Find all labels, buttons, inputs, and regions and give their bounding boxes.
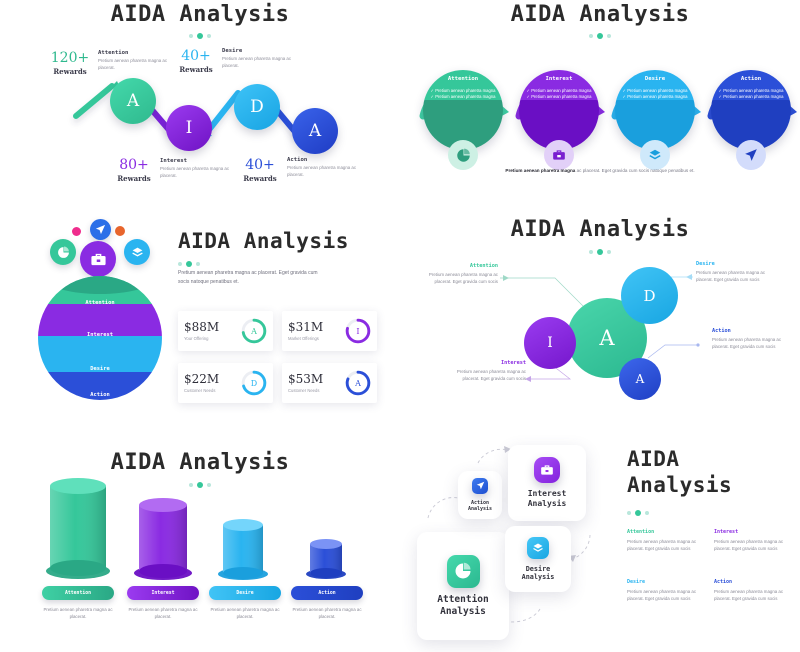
flow-card-action[interactable]: Action Analysis xyxy=(458,471,502,519)
arc-group-attention[interactable]: Attention ✓ Pretium aenean pharetra magn… xyxy=(415,52,511,172)
panel-sphere-stats: Attention Interest Desire Action AIDA An… xyxy=(0,205,400,433)
donut-ring: A xyxy=(241,318,267,344)
bubble-interest[interactable]: I xyxy=(524,317,576,369)
bubble-note-attention: Attention Pretium aenean pharetra magna … xyxy=(414,263,498,285)
stat-card-customer-needs-a[interactable]: $53M Customer Needs A xyxy=(282,363,377,403)
step-node-interest[interactable]: I xyxy=(166,105,212,151)
bubble-note-desire: Desire Pretium aenean pharetra magna ac … xyxy=(696,261,780,283)
layers-icon[interactable] xyxy=(124,239,150,265)
arc-bullets: ✓ Pretium aenean pharetra magna ✓ Pretiu… xyxy=(717,88,785,101)
bar-pill-attention[interactable]: Attention xyxy=(42,586,114,600)
arc-disc xyxy=(711,70,791,150)
ring-letter: I xyxy=(345,318,371,344)
arc-disc xyxy=(519,70,599,150)
arc-bullet-1: Pretium aenean pharetra magna xyxy=(723,88,783,93)
note-heading: Interest xyxy=(714,529,792,535)
arc-bullets: ✓ Pretium aenean pharetra magna ✓ Pretiu… xyxy=(429,88,497,101)
arc-label: Desire xyxy=(607,76,703,82)
note-body: Pretium aenean pharetra magna ac placera… xyxy=(414,271,498,285)
flow-note-interest: Interest Pretium aenean pharetra magna a… xyxy=(714,529,792,553)
flow-card-attention[interactable]: Attention Analysis xyxy=(417,532,509,640)
step-text-desire: Desire Pretium aenean pharetra magna ac … xyxy=(222,48,308,70)
note-body: Pretium aenean pharetra magna ac placera… xyxy=(627,538,705,553)
flow-card-interest[interactable]: Interest Analysis xyxy=(508,445,586,521)
metric-desire: 40+ Rewards xyxy=(168,49,224,74)
step-desc: Pretium aenean pharetra magna ac placera… xyxy=(222,56,308,70)
layers-icon[interactable] xyxy=(527,537,549,559)
send-icon[interactable] xyxy=(736,140,766,170)
panel-arc-circles: AIDA Analysis Attention ✓ Pretium aenean… xyxy=(400,0,800,205)
arc-label: Attention xyxy=(415,76,511,82)
arc-bullet-2: Pretium aenean pharetra magna xyxy=(531,94,591,99)
arc-bullets: ✓ Pretium aenean pharetra magna ✓ Pretiu… xyxy=(621,88,689,101)
arc-disc xyxy=(615,70,695,150)
panel-lead-text: Pretium aenean pharetra magna ac placera… xyxy=(178,269,328,287)
donut-ring: D xyxy=(241,370,267,396)
bar-desc-interest: Pretium aenean pharetra magna ac placera… xyxy=(121,606,205,620)
step-letter: D xyxy=(250,97,264,117)
bar-pill-action[interactable]: Action xyxy=(291,586,363,600)
bar-pill-desire[interactable]: Desire xyxy=(209,586,281,600)
stat-amount: $31M xyxy=(288,321,323,333)
stat-card-your-offering[interactable]: $88M Your Offering A xyxy=(178,311,273,351)
bubble-letter: D xyxy=(643,287,655,305)
stat-amount: $88M xyxy=(184,321,219,333)
note-body: Pretium aenean pharetra magna ac placera… xyxy=(714,538,792,553)
bubble-letter: I xyxy=(547,335,553,351)
footer-rest: ac placerat. Eget gravida cum socis nato… xyxy=(575,168,694,173)
note-heading: Interest xyxy=(442,360,526,366)
arc-bullet-1: Pretium aenean pharetra magna xyxy=(531,88,591,93)
sphere-band-interest: Interest xyxy=(38,310,162,340)
note-body: Pretium aenean pharetra magna ac placera… xyxy=(627,588,705,603)
pie-chart-icon[interactable] xyxy=(448,140,478,170)
bubble-desire[interactable]: D xyxy=(621,267,678,324)
donut-ring: I xyxy=(345,318,371,344)
stat-amount: $53M xyxy=(288,373,323,385)
bar-desc-attention: Pretium aenean pharetra magna ac placera… xyxy=(36,606,120,620)
stat-sub: Customer Needs xyxy=(288,388,323,393)
flow-card-label: Interest Analysis xyxy=(528,489,567,509)
step-node-action[interactable]: A xyxy=(292,108,338,154)
sphere-band-desire: Desire xyxy=(38,342,162,374)
sphere-band-attention: Attention xyxy=(38,278,162,308)
step-node-attention[interactable]: A xyxy=(110,78,156,124)
metric-value: 40+ xyxy=(168,49,224,63)
arc-bullets: ✓ Pretium aenean pharetra magna ✓ Pretiu… xyxy=(525,88,593,101)
donut-ring: A xyxy=(345,370,371,396)
arc-bullet-2: Pretium aenean pharetra magna xyxy=(435,94,495,99)
metric-attention: 120+ Rewards xyxy=(42,51,98,76)
ring-letter: A xyxy=(345,370,371,396)
icon-cluster xyxy=(40,219,165,277)
arc-label: Action xyxy=(703,76,799,82)
cylinder-desire xyxy=(218,519,268,580)
title-dots xyxy=(400,33,800,39)
arc-bullet-1: Pretium aenean pharetra magna xyxy=(435,88,495,93)
stat-sub: Your Offering xyxy=(184,336,219,341)
page-title: AIDA Analysis xyxy=(178,229,349,253)
dot-orange xyxy=(115,226,125,236)
note-heading: Action xyxy=(712,328,796,334)
footer-bold: Pretium aenean pharetra magna xyxy=(505,168,575,173)
panel-cylinder-chart: AIDA Analysis xyxy=(0,433,400,652)
bar-desc-desire: Pretium aenean pharetra magna ac placera… xyxy=(203,606,287,620)
panel-zigzag-steps: AIDA Analysis A I xyxy=(0,0,400,205)
arc-bullet-2: Pretium aenean pharetra magna xyxy=(723,94,783,99)
arc-label: Interest xyxy=(511,76,607,82)
step-node-desire[interactable]: D xyxy=(234,84,280,130)
infographic-sheet: AIDA Analysis A I xyxy=(0,0,800,652)
stat-sub: Market Offerings xyxy=(288,336,323,341)
page-title: AIDA Analysis xyxy=(400,2,800,27)
metric-interest: 80+ Rewards xyxy=(106,158,162,183)
pill-label: Interest xyxy=(151,591,174,596)
note-heading: Attention xyxy=(627,529,705,535)
stat-amount: $22M xyxy=(184,373,219,385)
panel-flow-cards: Attention Analysis Action Analysis Inter… xyxy=(400,433,800,652)
metric-value: 120+ xyxy=(42,51,98,65)
note-heading: Action xyxy=(714,579,792,585)
flow-note-attention: Attention Pretium aenean pharetra magna … xyxy=(627,529,705,553)
briefcase-icon[interactable] xyxy=(534,457,560,483)
note-heading: Desire xyxy=(627,579,705,585)
cylinder-action xyxy=(306,539,346,579)
arc-bullet-2: Pretium aenean pharetra magna xyxy=(627,94,687,99)
metric-sub: Rewards xyxy=(42,67,98,76)
step-text-action: Action Pretium aenean pharetra magna ac … xyxy=(287,157,373,179)
metric-sub: Rewards xyxy=(106,174,162,183)
pie-chart-icon[interactable] xyxy=(50,239,76,265)
dot-pink xyxy=(72,227,81,236)
pill-label: Desire xyxy=(236,591,253,596)
cylinder-interest xyxy=(134,498,192,580)
ring-letter: A xyxy=(241,318,267,344)
bar-pill-interest[interactable]: Interest xyxy=(127,586,199,600)
send-icon[interactable] xyxy=(472,478,488,494)
step-letter: I xyxy=(186,118,193,138)
panel-bubbles: AIDA Analysis A I D A Attention Pretium … xyxy=(400,205,800,433)
flow-card-label: Desire Analysis xyxy=(522,565,555,582)
bubble-letter: A xyxy=(599,326,614,350)
flow-card-desire[interactable]: Desire Analysis xyxy=(505,526,571,592)
note-heading: Attention xyxy=(414,263,498,269)
bubble-note-action: Action Pretium aenean pharetra magna ac … xyxy=(712,328,796,350)
arc-group-action[interactable]: Action ✓ Pretium aenean pharetra magna ✓… xyxy=(703,52,799,172)
stat-card-customer-needs-d[interactable]: $22M Customer Needs D xyxy=(178,363,273,403)
layers-icon[interactable] xyxy=(640,140,670,170)
flow-note-desire: Desire Pretium aenean pharetra magna ac … xyxy=(627,579,705,603)
pie-chart-icon[interactable] xyxy=(447,555,480,588)
metric-value: 80+ xyxy=(106,158,162,172)
arc-group-interest[interactable]: Interest ✓ Pretium aenean pharetra magna… xyxy=(511,52,607,172)
note-body: Pretium aenean pharetra magna ac placera… xyxy=(712,336,796,350)
pill-label: Attention xyxy=(65,591,91,596)
ring-letter: D xyxy=(241,370,267,396)
metric-sub: Rewards xyxy=(232,174,288,183)
send-icon[interactable] xyxy=(90,219,111,240)
title-dots xyxy=(627,510,649,516)
step-letter: A xyxy=(309,121,321,141)
bubble-action[interactable]: A xyxy=(619,358,661,400)
note-body: Pretium aenean pharetra magna ac placera… xyxy=(442,368,526,382)
step-label: Action xyxy=(287,157,373,163)
step-letter: A xyxy=(127,91,139,111)
step-desc: Pretium aenean pharetra magna ac placera… xyxy=(287,165,373,179)
sphere-funnel[interactable]: Attention Interest Desire Action xyxy=(38,272,162,400)
arc-disc xyxy=(423,70,503,150)
title-dots xyxy=(178,261,200,267)
cylinder-attention xyxy=(46,478,110,579)
arc-group-desire[interactable]: Desire ✓ Pretium aenean pharetra magna ✓… xyxy=(607,52,703,172)
note-body: Pretium aenean pharetra magna ac placera… xyxy=(714,588,792,603)
stat-sub: Customer Needs xyxy=(184,388,219,393)
pill-label: Action xyxy=(318,591,335,596)
flow-note-action: Action Pretium aenean pharetra magna ac … xyxy=(714,579,792,603)
flow-card-label: Attention Analysis xyxy=(437,594,488,618)
sphere-band-action: Action xyxy=(38,376,162,400)
panel-footer-note: Pretium aenean pharetra magna ac placera… xyxy=(450,168,750,175)
step-label: Desire xyxy=(222,48,308,54)
note-body: Pretium aenean pharetra magna ac placera… xyxy=(696,269,780,283)
flow-card-label: Action Analysis xyxy=(468,500,492,513)
stat-card-market-offerings[interactable]: $31M Market Offerings I xyxy=(282,311,377,351)
arc-bullet-1: Pretium aenean pharetra magna xyxy=(627,88,687,93)
metric-sub: Rewards xyxy=(168,65,224,74)
bar-desc-action: Pretium aenean pharetra magna ac placera… xyxy=(285,606,369,620)
note-heading: Desire xyxy=(696,261,780,267)
briefcase-icon[interactable] xyxy=(544,140,574,170)
bubble-note-interest: Interest Pretium aenean pharetra magna a… xyxy=(442,360,526,382)
metric-value: 40+ xyxy=(232,158,288,172)
page-title: AIDA Analysis xyxy=(627,447,732,498)
bubble-letter: A xyxy=(636,372,645,386)
metric-action: 40+ Rewards xyxy=(232,158,288,183)
